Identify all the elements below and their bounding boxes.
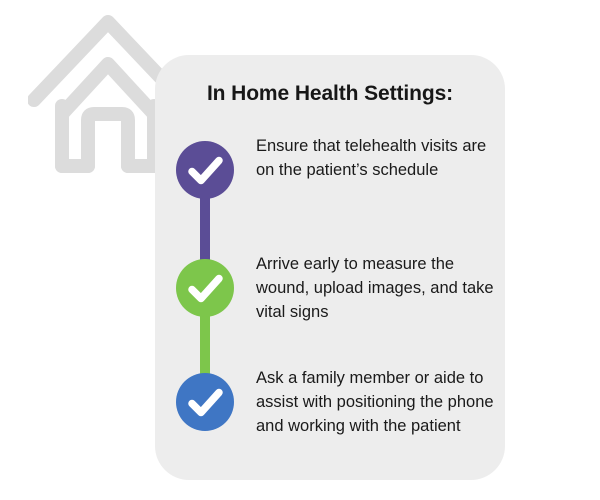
infographic-canvas: In Home Health Settings: Ensure that tel… xyxy=(0,0,600,500)
info-card: In Home Health Settings: Ensure that tel… xyxy=(155,55,505,480)
check-icon xyxy=(176,373,234,431)
check-icon xyxy=(176,141,234,199)
step-1-check-badge xyxy=(176,141,234,199)
check-icon xyxy=(176,259,234,317)
step-1-text: Ensure that telehealth visits are on the… xyxy=(256,134,494,182)
steps-list: Ensure that telehealth visits are on the… xyxy=(155,55,505,480)
step-2-text: Arrive early to measure the wound, uploa… xyxy=(256,252,494,324)
step-3-text: Ask a family member or aide to assist wi… xyxy=(256,366,494,438)
step-3-check-badge xyxy=(176,373,234,431)
step-2-check-badge xyxy=(176,259,234,317)
connector-step1-step2 xyxy=(200,189,210,269)
